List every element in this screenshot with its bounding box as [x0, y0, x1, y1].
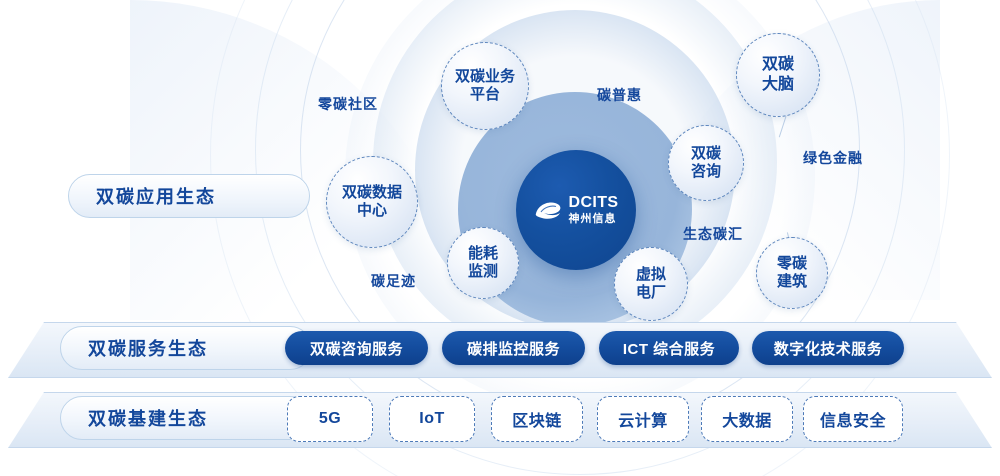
layer-service-label: 双碳服务生态 [60, 326, 312, 370]
service-button-consulting[interactable]: 双碳咨询服务 [285, 331, 428, 365]
infra-item-information-security[interactable]: 信息安全 [803, 396, 903, 442]
bubble-energy-monitor-line2: 监测 [468, 263, 498, 281]
bubble-data-center-line2: 中心 [342, 202, 402, 220]
service-button-digital-tech[interactable]: 数字化技术服务 [752, 331, 904, 365]
label-carbon-footprint: 碳足迹 [371, 271, 416, 291]
bubble-zero-carbon-building[interactable]: 零碳 建筑 [756, 237, 828, 309]
label-eco-carbon-sink: 生态碳汇 [683, 224, 743, 244]
bubble-brain[interactable]: 双碳 大脑 [736, 33, 820, 117]
bubble-virtual-plant[interactable]: 虚拟 电厂 [614, 247, 688, 321]
bubble-consulting-line1: 双碳 [691, 145, 721, 163]
bubble-virtual-plant-line1: 虚拟 [636, 266, 666, 284]
center-logo-disc: DCITS 神州信息 [516, 150, 636, 270]
bubble-platform-line1: 双碳业务 [455, 68, 515, 86]
infra-item-blockchain[interactable]: 区块链 [491, 396, 583, 442]
bubble-consulting[interactable]: 双碳 咨询 [668, 125, 744, 201]
layer-application-label: 双碳应用生态 [68, 174, 310, 218]
infra-item-big-data[interactable]: 大数据 [701, 396, 793, 442]
infra-item-iot[interactable]: IoT [389, 396, 475, 442]
diagram-canvas: DCITS 神州信息 双碳业务 平台 双碳 大脑 双碳数据 中心 双碳 咨询 能… [0, 0, 1000, 476]
bubble-platform-line2: 平台 [455, 86, 515, 104]
bubble-energy-monitor-line1: 能耗 [468, 245, 498, 263]
infra-item-5g[interactable]: 5G [287, 396, 373, 442]
service-button-emission-monitoring[interactable]: 碳排监控服务 [442, 331, 585, 365]
bubble-data-center[interactable]: 双碳数据 中心 [326, 156, 418, 248]
bubble-energy-monitor[interactable]: 能耗 监测 [447, 227, 519, 299]
bubble-virtual-plant-line2: 电厂 [636, 284, 666, 302]
infra-item-cloud-computing[interactable]: 云计算 [597, 396, 689, 442]
bubble-zero-carbon-building-line2: 建筑 [777, 273, 807, 291]
dcits-swoosh-icon [534, 198, 564, 222]
bubble-consulting-line2: 咨询 [691, 163, 721, 181]
layer-infrastructure-label: 双碳基建生态 [60, 396, 312, 440]
label-carbon-inclusion: 碳普惠 [597, 85, 642, 105]
bubble-brain-line1: 双碳 [762, 55, 794, 75]
bubble-zero-carbon-building-line1: 零碳 [777, 255, 807, 273]
logo-text-cn: 神州信息 [569, 214, 619, 225]
bubble-platform[interactable]: 双碳业务 平台 [441, 42, 529, 130]
label-green-finance: 绿色金融 [803, 148, 863, 168]
label-zero-carbon-community: 零碳社区 [318, 94, 378, 114]
logo-text-en: DCITS [569, 195, 619, 211]
bubble-data-center-line1: 双碳数据 [342, 184, 402, 202]
service-button-ict-integrated[interactable]: ICT 综合服务 [599, 331, 739, 365]
bubble-brain-line2: 大脑 [762, 75, 794, 95]
